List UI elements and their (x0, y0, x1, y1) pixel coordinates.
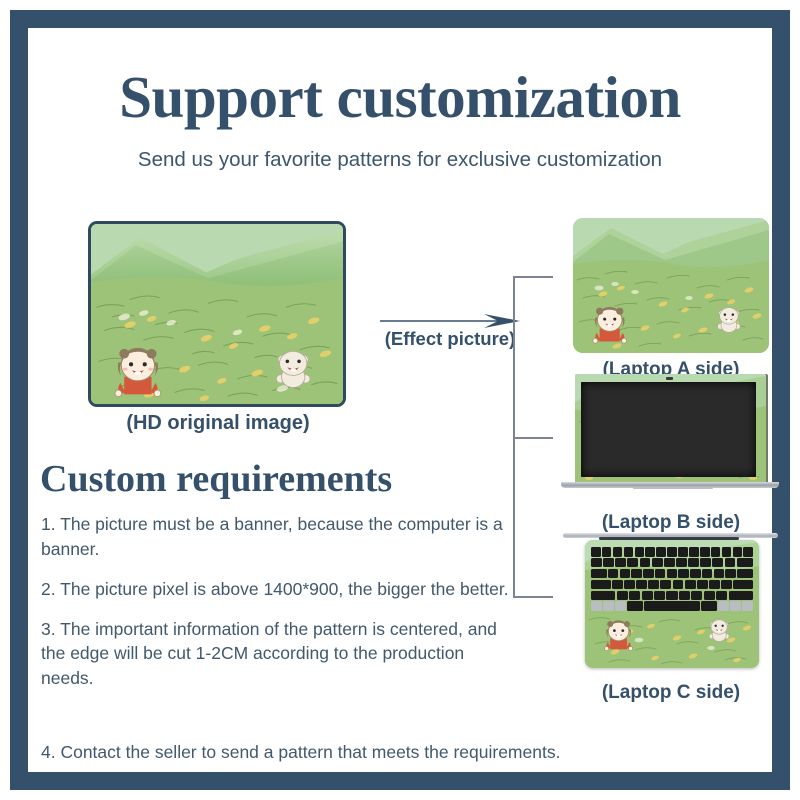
laptop-c-caption: (Laptop C side) (548, 682, 794, 704)
requirement-item: 2. The picture pixel is above 1400*900, … (41, 577, 511, 602)
hd-original-image (88, 221, 346, 407)
critter-character (276, 351, 310, 387)
laptop-b-preview (573, 374, 773, 496)
laptop-a-preview (573, 218, 769, 353)
keyboard-row (591, 591, 753, 601)
keyboard-row (591, 569, 753, 579)
requirements-title: Custom requirements (40, 460, 540, 500)
grassland-illustration (91, 224, 343, 404)
requirements-list: 1. The picture must be a banner, because… (41, 512, 511, 706)
requirement-item: 1. The picture must be a banner, because… (41, 512, 511, 562)
laptop-b-screen (581, 382, 756, 477)
effect-picture-caption: (Effect picture) (365, 328, 535, 350)
requirement-item: 3. The important information of the patt… (41, 617, 511, 692)
laptop-c-trackpad (631, 607, 689, 608)
page-title: Support customization (28, 68, 772, 127)
keyboard-row (591, 558, 753, 568)
content-area: Support customization Send us your favor… (28, 28, 772, 772)
page-subtitle: Send us your favorite patterns for exclu… (28, 148, 772, 172)
laptop-c-preview (573, 533, 773, 675)
keyboard-row (591, 580, 753, 590)
keyboard-row (591, 547, 753, 557)
laptop-b-caption: (Laptop B side) (548, 512, 794, 534)
page-root: Support customization Send us your favor… (0, 0, 800, 800)
laptop-b-webcam (666, 377, 673, 380)
requirement-item: 4. Contact the seller to send a pattern … (41, 740, 741, 765)
laptop-c-keyboard (591, 547, 753, 603)
laptop-b-foot (633, 487, 713, 489)
hd-original-caption: (HD original image) (68, 412, 368, 435)
bracket-tick-middle (513, 437, 553, 439)
